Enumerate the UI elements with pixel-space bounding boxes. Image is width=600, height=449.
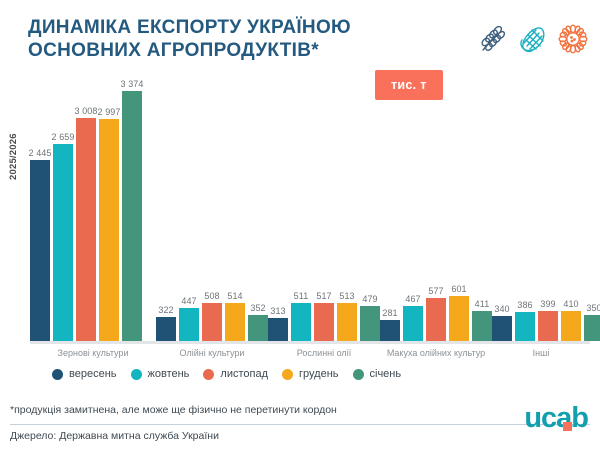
bar-column: 313: [268, 84, 288, 341]
bar-value-label: 350: [586, 303, 600, 313]
bar-column: 3 008: [76, 84, 96, 341]
legend-label: листопад: [220, 368, 268, 380]
bar-column: 467: [403, 84, 423, 341]
bar-column: 350: [584, 84, 600, 341]
bar-column: 2 659: [53, 84, 73, 341]
x-axis-tick-label: Олійні культури: [156, 348, 268, 364]
bar[interactable]: [268, 318, 288, 341]
bar-value-label: 517: [316, 291, 331, 301]
legend-color-swatch: [353, 369, 364, 380]
bar[interactable]: [337, 303, 357, 341]
bar[interactable]: [53, 144, 73, 341]
sunflower-icon: [556, 22, 590, 56]
title-line-1: ДИНАМІКА ЕКСПОРТУ УКРАЇНОЮ: [28, 17, 351, 38]
bar-value-label: 3 008: [74, 106, 97, 116]
bar-column: 479: [360, 84, 380, 341]
ucab-logo-accent-square: [563, 422, 572, 431]
bar[interactable]: [584, 315, 600, 341]
bar-group: 322447508514352: [156, 84, 268, 341]
bar[interactable]: [291, 303, 311, 341]
legend-color-swatch: [131, 369, 142, 380]
wheat-ear-icon: [476, 22, 510, 56]
bar-value-label: 513: [339, 291, 354, 301]
legend-item[interactable]: грудень: [282, 368, 338, 380]
bar-column: 513: [337, 84, 357, 341]
bar-column: 577: [426, 84, 446, 341]
bar-value-label: 2 659: [51, 132, 74, 142]
bar[interactable]: [179, 308, 199, 341]
legend-label: жовтень: [148, 368, 190, 380]
legend-color-swatch: [52, 369, 63, 380]
bar[interactable]: [314, 303, 334, 341]
bar-column: 601: [449, 84, 469, 341]
x-axis-tick-label: Макуха олійних культур: [380, 348, 492, 364]
bar-column: 508: [202, 84, 222, 341]
bar-column: 511: [291, 84, 311, 341]
chart-legend: вересеньжовтеньлистопадгруденьсічень: [52, 368, 401, 380]
bar-value-label: 386: [517, 300, 532, 310]
bar-column: 399: [538, 84, 558, 341]
bar-value-label: 577: [428, 286, 443, 296]
bar-value-label: 410: [563, 299, 578, 309]
bar-value-label: 447: [181, 296, 196, 306]
bar-column: 352: [248, 84, 268, 341]
bar[interactable]: [225, 303, 245, 341]
bar-column: 386: [515, 84, 535, 341]
x-axis-tick-label: Зернові культури: [30, 348, 156, 364]
bar-value-label: 467: [405, 294, 420, 304]
bar-group: 340386399410350: [492, 84, 590, 341]
ucab-logo-text: ucab: [524, 404, 588, 433]
footer-divider: [10, 424, 590, 425]
legend-item[interactable]: вересень: [52, 368, 117, 380]
footnote: *продукція замитнена, але може ще фізичн…: [10, 404, 337, 416]
legend-label: вересень: [69, 368, 117, 380]
bar[interactable]: [30, 160, 50, 341]
title-line-2: ОСНОВНИХ АГРОПРОДУКТІВ*: [28, 39, 428, 62]
bar-value-label: 322: [158, 305, 173, 315]
bar-column: 3 374: [122, 84, 142, 341]
bar[interactable]: [380, 320, 400, 341]
legend-label: січень: [370, 368, 402, 380]
bar-column: 517: [314, 84, 334, 341]
bar-group: 313511517513479: [268, 84, 380, 341]
bar-group: 281467577601411: [380, 84, 492, 341]
ucab-logo: ucab: [524, 404, 588, 433]
chart-page: ДИНАМІКА ЕКСПОРТУ УКРАЇНОЮ ОСНОВНИХ АГРО…: [0, 0, 600, 449]
source-text: Джерело: Державна митна служба України: [10, 430, 219, 442]
corn-cob-icon: [516, 22, 550, 56]
bar-value-label: 2 445: [28, 148, 51, 158]
bar-value-label: 508: [204, 291, 219, 301]
bar-column: 514: [225, 84, 245, 341]
bar-value-label: 281: [382, 308, 397, 318]
bar-column: 2 997: [99, 84, 119, 341]
bar-groups: 2 4452 6593 0082 9973 374322447508514352…: [30, 84, 590, 341]
bar[interactable]: [515, 312, 535, 341]
bar-value-label: 352: [250, 303, 265, 313]
legend-item[interactable]: жовтень: [131, 368, 190, 380]
bar-column: 281: [380, 84, 400, 341]
bar[interactable]: [472, 311, 492, 341]
x-axis-tick-label: Рослинні олії: [268, 348, 380, 364]
bar-column: 2 445: [30, 84, 50, 341]
bar-column: 447: [179, 84, 199, 341]
bar[interactable]: [403, 306, 423, 341]
bar[interactable]: [426, 298, 446, 341]
axis-baseline: [30, 341, 590, 344]
bar-value-label: 399: [540, 299, 555, 309]
bar-value-label: 3 374: [120, 79, 143, 89]
bar[interactable]: [449, 296, 469, 341]
bar[interactable]: [561, 311, 581, 341]
bar[interactable]: [99, 119, 119, 341]
bar[interactable]: [122, 91, 142, 341]
legend-color-swatch: [203, 369, 214, 380]
bar-value-label: 511: [294, 291, 309, 301]
bar-value-label: 601: [451, 284, 466, 294]
legend-label: грудень: [299, 368, 338, 380]
bar-value-label: 340: [494, 304, 509, 314]
legend-item[interactable]: листопад: [203, 368, 268, 380]
bar-column: 340: [492, 84, 512, 341]
header-decorative-icons: [476, 22, 590, 56]
legend-item[interactable]: січень: [353, 368, 402, 380]
bar-value-label: 2 997: [97, 107, 120, 117]
bar[interactable]: [360, 306, 380, 341]
bar-column: 410: [561, 84, 581, 341]
bar[interactable]: [76, 118, 96, 341]
bar[interactable]: [156, 317, 176, 341]
bar[interactable]: [492, 316, 512, 341]
bar-column: 411: [472, 84, 492, 341]
bar-column: 322: [156, 84, 176, 341]
bar-value-label: 479: [362, 294, 377, 304]
page-title: ДИНАМІКА ЕКСПОРТУ УКРАЇНОЮ ОСНОВНИХ АГРО…: [28, 16, 428, 62]
bar-value-label: 514: [227, 291, 242, 301]
legend-color-swatch: [282, 369, 293, 380]
bar[interactable]: [538, 311, 558, 341]
bar-group: 2 4452 6593 0082 9973 374: [30, 84, 156, 341]
x-axis-tick-label: Інші: [492, 348, 590, 364]
y-axis-label: 2025/2026: [8, 133, 19, 180]
bar[interactable]: [202, 303, 222, 341]
x-axis-category-labels: Зернові культуриОлійні культуриРослинні …: [30, 348, 590, 364]
bar-value-label: 411: [475, 299, 490, 309]
bar-value-label: 313: [270, 306, 285, 316]
bar[interactable]: [248, 315, 268, 341]
